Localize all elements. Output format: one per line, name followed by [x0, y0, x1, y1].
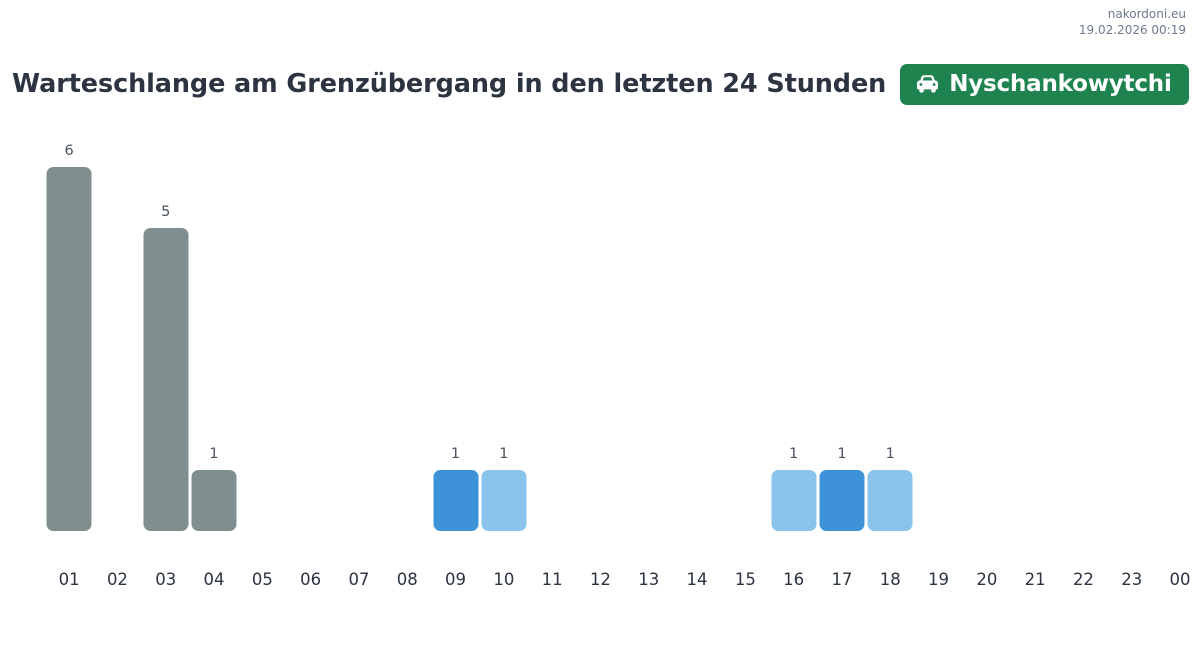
- x-axis-tick-label: 10: [493, 570, 514, 589]
- bar-column[interactable]: 20: [963, 0, 1011, 651]
- bar[interactable]: [481, 470, 526, 531]
- x-axis-tick-label: 11: [542, 570, 563, 589]
- x-axis-tick-label: 07: [348, 570, 369, 589]
- bar-chart-plot: 6010250310405060708109110111213141511611…: [0, 0, 1200, 651]
- bar-value-label: 6: [65, 143, 74, 159]
- bar-column[interactable]: 14: [673, 0, 721, 651]
- bar[interactable]: [868, 470, 913, 531]
- bar-column[interactable]: 104: [190, 0, 238, 651]
- x-axis-tick-label: 02: [107, 570, 128, 589]
- bar-column[interactable]: 08: [383, 0, 431, 651]
- bar-column[interactable]: 06: [287, 0, 335, 651]
- bar-column[interactable]: 13: [625, 0, 673, 651]
- x-axis-tick-label: 16: [783, 570, 804, 589]
- bar-column[interactable]: 12: [576, 0, 624, 651]
- x-axis-tick-label: 05: [252, 570, 273, 589]
- bar-column[interactable]: 601: [45, 0, 93, 651]
- bar-value-label: 1: [837, 446, 846, 462]
- x-axis-tick-label: 04: [204, 570, 225, 589]
- bar-value-label: 1: [886, 446, 895, 462]
- x-axis-tick-label: 01: [59, 570, 80, 589]
- bar-value-label: 1: [451, 446, 460, 462]
- bar-column[interactable]: 118: [866, 0, 914, 651]
- bar-column[interactable]: 110: [480, 0, 528, 651]
- bar[interactable]: [819, 470, 864, 531]
- bar-column[interactable]: 109: [431, 0, 479, 651]
- bar-value-label: 1: [789, 446, 798, 462]
- x-axis-tick-label: 15: [735, 570, 756, 589]
- bar-column[interactable]: 07: [335, 0, 383, 651]
- bar-column[interactable]: 116: [770, 0, 818, 651]
- x-axis-tick-label: 00: [1170, 570, 1191, 589]
- x-axis-tick-label: 12: [590, 570, 611, 589]
- x-axis-tick-label: 22: [1073, 570, 1094, 589]
- bar-column[interactable]: 117: [818, 0, 866, 651]
- x-axis-tick-label: 20: [976, 570, 997, 589]
- bar-column[interactable]: 11: [528, 0, 576, 651]
- bar[interactable]: [143, 228, 188, 531]
- x-axis-tick-label: 13: [638, 570, 659, 589]
- x-axis-tick-label: 23: [1121, 570, 1142, 589]
- x-axis-tick-label: 21: [1025, 570, 1046, 589]
- x-axis-tick-label: 19: [928, 570, 949, 589]
- bar-column[interactable]: 05: [238, 0, 286, 651]
- bar-column[interactable]: 503: [142, 0, 190, 651]
- x-axis-tick-label: 03: [155, 570, 176, 589]
- bar-column[interactable]: 02: [93, 0, 141, 651]
- bar-column[interactable]: 21: [1011, 0, 1059, 651]
- bar-column[interactable]: 15: [721, 0, 769, 651]
- x-axis-tick-label: 08: [397, 570, 418, 589]
- bar-value-label: 5: [161, 204, 170, 220]
- bar[interactable]: [433, 470, 478, 531]
- bar-value-label: 1: [499, 446, 508, 462]
- x-axis-tick-label: 09: [445, 570, 466, 589]
- bar-column[interactable]: 19: [914, 0, 962, 651]
- bar-column[interactable]: 00: [1156, 0, 1200, 651]
- bar[interactable]: [771, 470, 816, 531]
- bar[interactable]: [192, 470, 237, 531]
- x-axis-tick-label: 17: [831, 570, 852, 589]
- bar[interactable]: [47, 167, 92, 531]
- bar-column[interactable]: 22: [1059, 0, 1107, 651]
- x-axis-tick-label: 06: [300, 570, 321, 589]
- x-axis-tick-label: 18: [880, 570, 901, 589]
- bar-value-label: 1: [209, 446, 218, 462]
- x-axis-tick-label: 14: [687, 570, 708, 589]
- bar-column[interactable]: 23: [1108, 0, 1156, 651]
